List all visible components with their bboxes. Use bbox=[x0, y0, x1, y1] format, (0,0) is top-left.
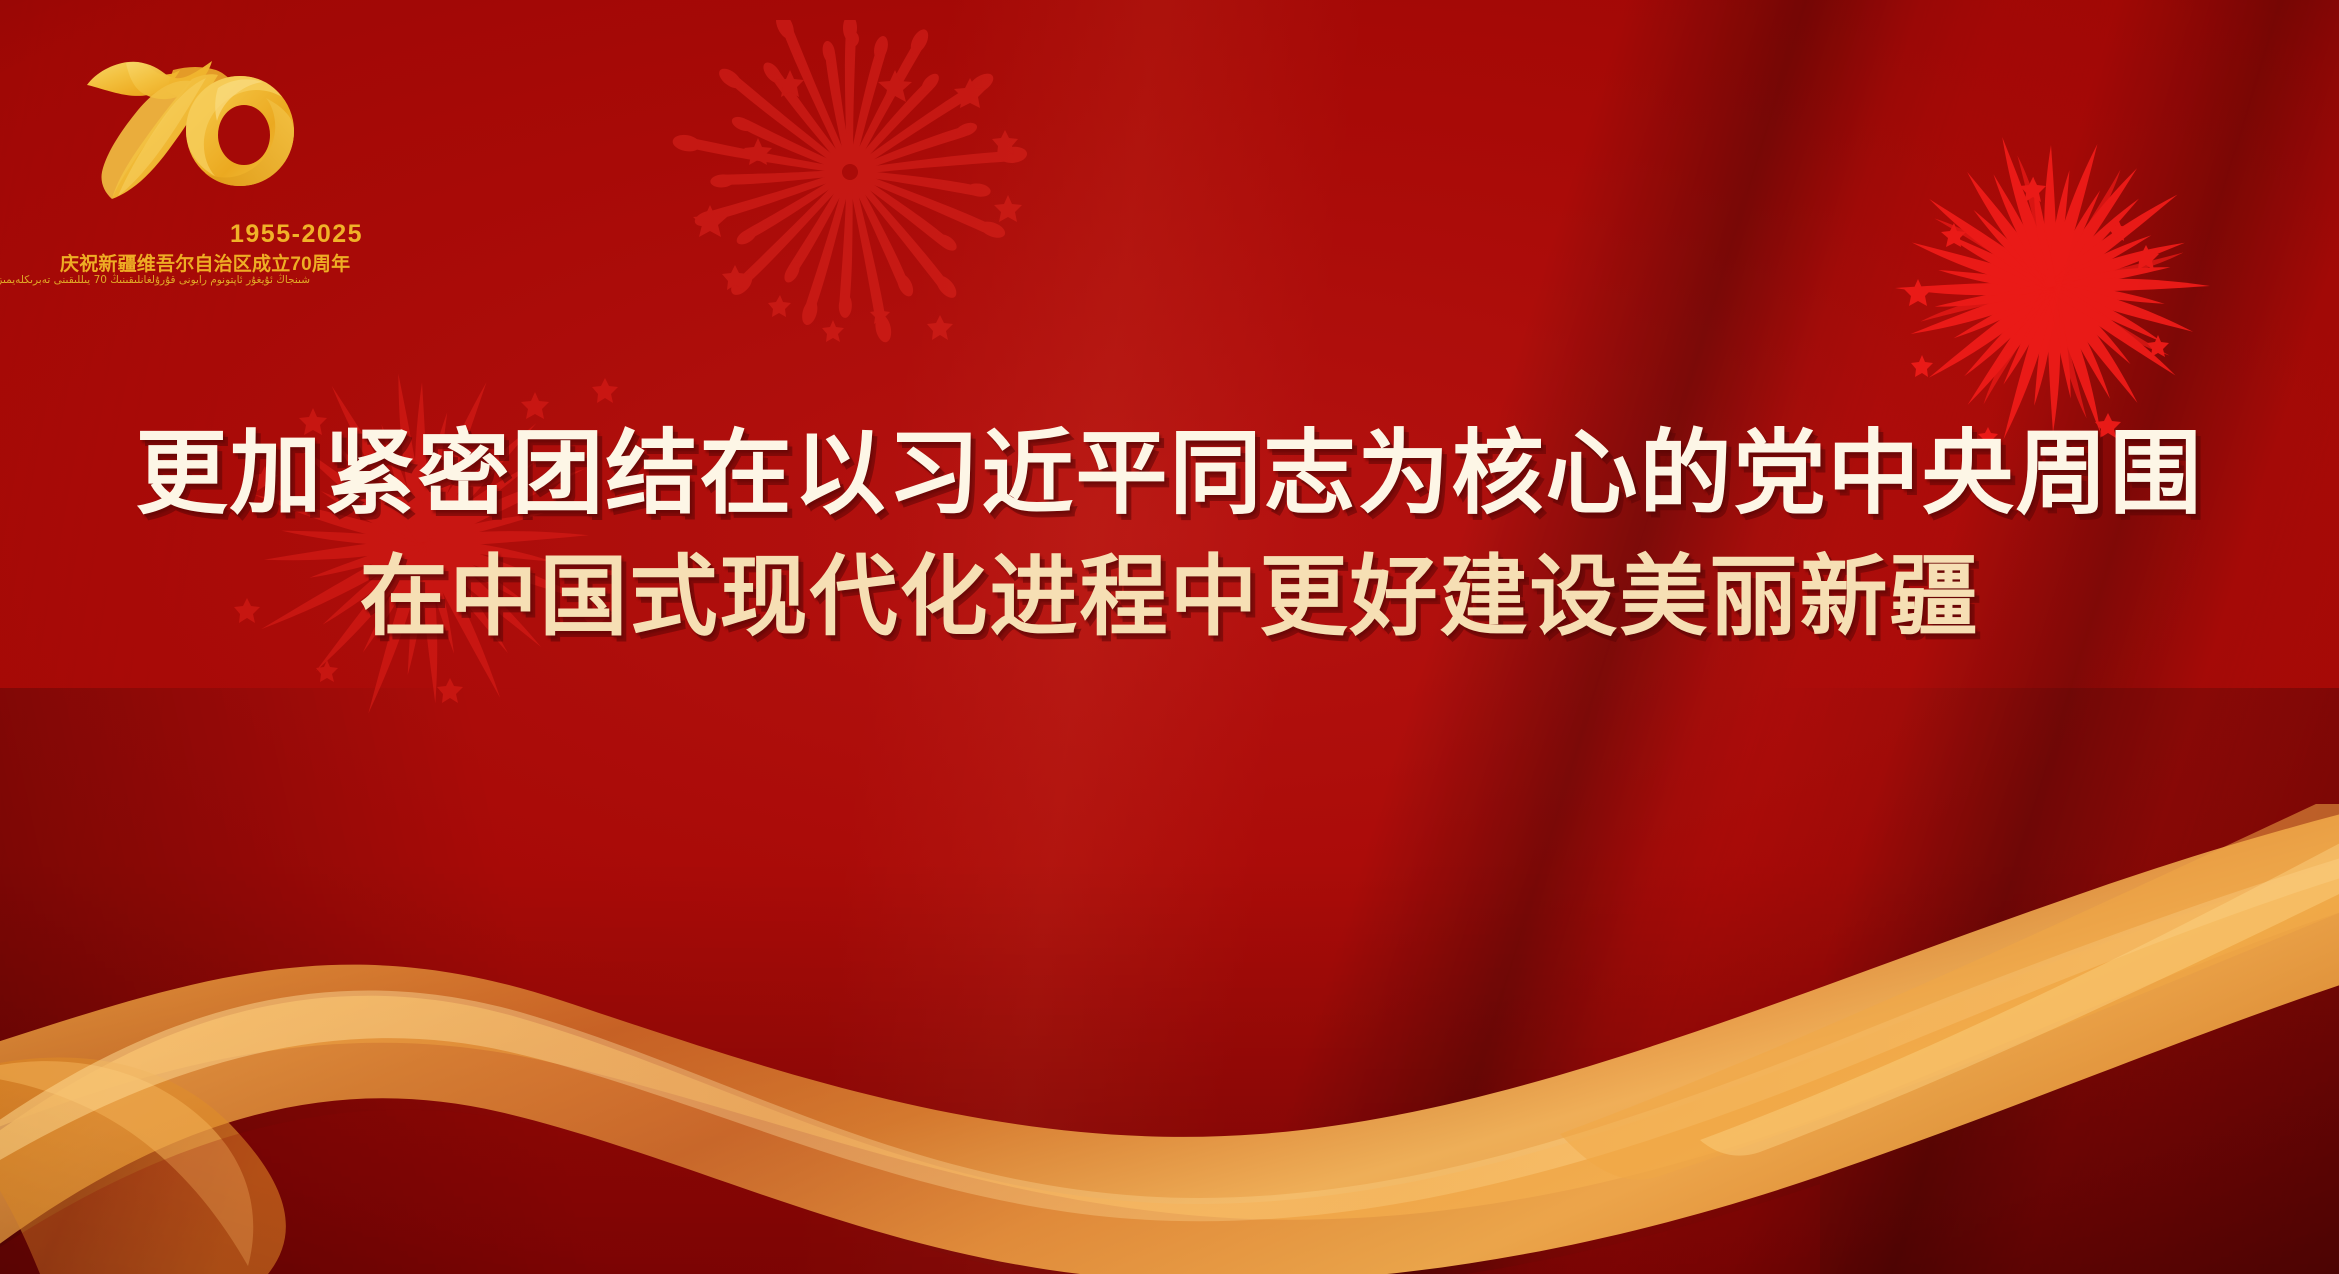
logo-year-range: 1955-2025 bbox=[230, 220, 363, 249]
silk-ribbon-wave bbox=[0, 804, 2339, 1274]
anniversary-logo: 1955-2025 庆祝新疆维吾尔自治区成立70周年 شىنجاڭ ئۇيغۇر… bbox=[60, 42, 440, 262]
firework-right-icon bbox=[1870, 115, 2250, 455]
logo-70-ribbon-icon bbox=[68, 42, 298, 202]
firework-center-top-icon bbox=[640, 20, 1060, 390]
logo-caption-ug: شىنجاڭ ئۇيغۇر ئاپتونوم رايونى قۇرۇلغانلى… bbox=[60, 274, 310, 286]
headline-block: 更加紧密团结在以习近平同志为核心的党中央周围 在中国式现代化进程中更好建设美丽新… bbox=[0, 420, 2339, 647]
logo-caption-zh: 庆祝新疆维吾尔自治区成立70周年 bbox=[60, 249, 310, 276]
headline-line-2: 在中国式现代化进程中更好建设美丽新疆 bbox=[0, 545, 2339, 647]
banner-canvas: 1955-2025 庆祝新疆维吾尔自治区成立70周年 شىنجاڭ ئۇيغۇر… bbox=[0, 0, 2339, 1274]
headline-line-1: 更加紧密团结在以习近平同志为核心的党中央周围 bbox=[0, 420, 2339, 527]
